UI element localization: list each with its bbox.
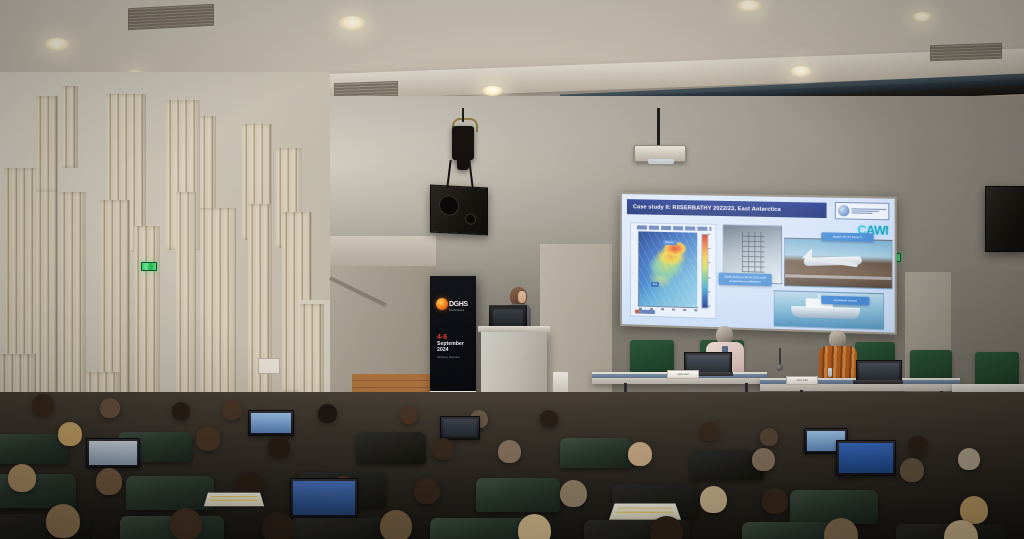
map-plot-area: Riiser-L. line	[639, 231, 697, 307]
ceiling-downlight	[790, 66, 812, 77]
audience-seat	[356, 432, 426, 464]
panel-chair	[975, 352, 1019, 386]
loudspeaker-right	[985, 186, 1024, 252]
audience-laptop	[440, 416, 480, 440]
banner-date: 4-6	[437, 334, 447, 341]
map-badge: Riiser-L.	[663, 240, 677, 246]
panel-laptop-base	[853, 380, 903, 384]
ceiling-downlight	[44, 38, 70, 51]
projector-pole	[657, 108, 660, 146]
audience-head	[318, 404, 337, 423]
audience-laptop	[86, 438, 140, 468]
panel-chair	[630, 340, 674, 372]
audience-head	[700, 422, 719, 441]
audience-head	[760, 428, 778, 446]
stair-wall-top	[330, 236, 436, 266]
logo-text-lines-icon	[852, 208, 887, 214]
panelist-torso	[819, 346, 857, 378]
presentation-slide: Case study II: RIISERBATHY 2022/23, East…	[622, 194, 895, 333]
slide-callout: AWM Airborne RCM-1003 with temperature c…	[719, 273, 772, 287]
banner-location: Hamburg, Germany	[437, 356, 460, 359]
spotlight-pole	[462, 108, 464, 122]
ceiling-downlight	[482, 86, 503, 96]
loudspeaker	[430, 184, 488, 235]
audience-seat	[126, 476, 214, 510]
speaker-face	[518, 291, 526, 303]
right-wall-recess	[540, 244, 612, 412]
audience-head	[900, 458, 924, 482]
map-footer-logo-icon	[635, 309, 655, 314]
map-badge: line	[651, 282, 659, 287]
projection-screen: Case study II: RIISERBATHY 2022/23, East…	[620, 192, 897, 335]
audience-laptop	[290, 478, 358, 518]
photo-polar-aircraft	[784, 238, 892, 290]
audience-head	[700, 486, 727, 513]
audience-head	[762, 488, 788, 514]
audience-head	[432, 438, 454, 460]
audience-head	[540, 410, 558, 428]
panel-nameplate: name card	[786, 376, 818, 385]
slide-callout: Research vessel	[821, 296, 869, 306]
wall-notice	[258, 358, 280, 374]
slide-title: Case study II: RIISERBATHY 2022/23, East…	[633, 204, 781, 213]
audience-seat	[476, 478, 560, 512]
water-bottle	[828, 368, 832, 377]
audience-head	[414, 478, 440, 504]
audience-seating	[0, 392, 1024, 539]
exit-sign-icon	[141, 262, 157, 271]
hvac-vent	[128, 4, 214, 31]
audience-seat	[560, 438, 632, 468]
audience-head	[58, 422, 82, 446]
audience-head	[172, 402, 190, 420]
audience-head	[46, 504, 80, 538]
audience-laptop	[836, 440, 896, 476]
hvac-vent	[930, 43, 1002, 62]
audience-head	[170, 508, 202, 539]
audience-head	[222, 400, 242, 420]
audience-head	[100, 398, 120, 418]
ceiling-downlight	[912, 12, 932, 22]
audience-head	[268, 436, 290, 458]
lecture-hall-photo: Case study II: RIISERBATHY 2022/23, East…	[0, 0, 1024, 539]
logo-mark-icon	[838, 205, 849, 216]
audience-head	[958, 448, 980, 470]
audience-head	[262, 512, 294, 539]
map-y-axis	[638, 231, 639, 305]
panel-microphone	[775, 348, 785, 374]
ceiling-downlight	[736, 0, 762, 12]
audience-head	[560, 480, 587, 507]
map-colorbar-ticks	[707, 234, 712, 307]
map-caption-text	[637, 225, 712, 231]
audience-head	[400, 406, 418, 424]
audience-head	[498, 440, 521, 463]
stage-spotlight-barrel	[457, 156, 469, 170]
institution-logo	[835, 202, 889, 220]
audience-head	[628, 442, 652, 466]
panelist-right	[819, 330, 857, 380]
ceiling-downlight	[338, 16, 366, 31]
audience-head	[96, 468, 122, 495]
audience-head	[752, 448, 775, 471]
audience-head	[380, 510, 412, 539]
conference-banner: DGHS Conference 4-6 September2024 Hambur…	[430, 276, 476, 409]
audience-head	[32, 394, 54, 416]
audience-head	[518, 514, 551, 539]
panel-nameplate: name card	[667, 370, 699, 379]
acoustic-slat-wall	[0, 72, 330, 422]
audience-laptop	[248, 410, 294, 436]
banner-logo-icon	[436, 298, 448, 310]
banner-logo-word: DGHS	[449, 301, 468, 308]
audience-seat	[290, 518, 392, 539]
slide-title-bar: Case study II: RIISERBATHY 2022/23, East…	[627, 199, 827, 218]
banner-month-year: September2024	[437, 342, 464, 354]
audience-head	[196, 426, 220, 451]
stage-spotlight	[452, 126, 474, 160]
projector-lens-icon	[648, 159, 674, 164]
banner-logo-subtitle: Conference	[449, 309, 464, 312]
audience-head	[8, 464, 36, 492]
audience-head	[908, 436, 928, 456]
bathymetry-map-figure: Riiser-L. line	[630, 222, 717, 319]
audience-notebook	[204, 493, 264, 507]
slide-callout: Basler BT-67 Polar 5	[821, 232, 873, 241]
